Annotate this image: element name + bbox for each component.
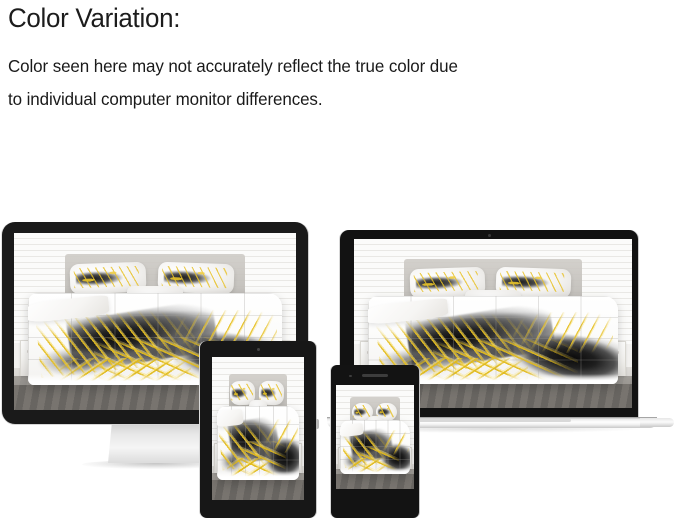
sheet-fold — [340, 422, 363, 436]
bed-skirt — [340, 468, 410, 474]
disclaimer-line-2: to individual computer monitor differenc… — [8, 83, 648, 116]
phone-screen — [336, 385, 414, 489]
pillow-gold-pattern — [74, 266, 140, 288]
comforter — [340, 420, 410, 474]
pillow-gold-pattern — [231, 384, 253, 401]
page-title: Color Variation: — [8, 2, 180, 34]
camera-icon — [257, 348, 260, 351]
camera-icon — [349, 375, 352, 378]
device-smartphone — [331, 365, 419, 518]
tablet-screen — [212, 357, 304, 500]
camera-icon — [488, 234, 491, 237]
pillow-gold-pattern — [352, 405, 370, 417]
pillow-gold-pattern — [377, 405, 395, 417]
bed-skirt — [217, 471, 300, 480]
laptop-base-edge — [640, 418, 674, 427]
disclaimer-line-1: Color seen here may not accurately refle… — [8, 50, 648, 83]
pillow-gold-pattern — [161, 266, 227, 288]
speaker-grille-icon — [362, 374, 388, 377]
artwork-bedroom-scene — [212, 357, 304, 500]
tablet-side-button[interactable] — [316, 419, 319, 429]
product-image-canvas: Color Variation: Color seen here may not… — [0, 0, 679, 518]
pillow-gold-pattern — [499, 271, 564, 292]
artwork-bedroom-scene — [336, 385, 414, 489]
monitor-stand — [108, 423, 204, 463]
pillow-gold-pattern — [260, 384, 282, 401]
comforter — [217, 406, 300, 480]
device-tablet — [200, 341, 316, 518]
pillow-gold-pattern — [413, 271, 478, 292]
color-disclaimer: Color seen here may not accurately refle… — [8, 50, 648, 116]
